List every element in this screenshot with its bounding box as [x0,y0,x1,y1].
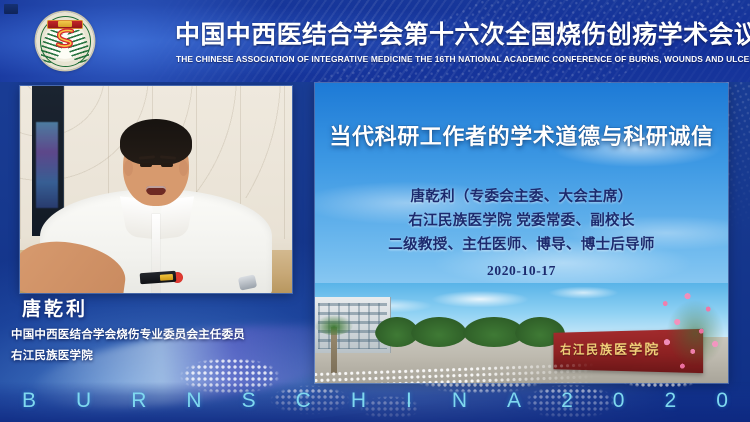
conference-broadcast-screen: 中国中西医结合学会第十六次全国烧伤创疡学术会议 THE CHINESE ASSO… [0,0,750,422]
speaker-name-overlay: 唐乾利 中国中西医结合学会烧伤专业委员会主任委员 右江民族医学院 [0,294,300,382]
banner-letter: A [507,389,521,413]
corner-artifact [4,4,18,14]
speaker-role-line-2: 右江民族医学院 [11,347,93,363]
bottom-banner: B U R N S C H I N A 2 0 2 0 [0,382,750,422]
banner-letter: N [186,389,201,413]
banner-letter: I [406,389,412,413]
banner-letter: B [22,389,36,413]
slide-info-line-3: 二级教授、主任医师、博导、博士后导师 [315,233,728,257]
association-emblem-icon [36,12,94,70]
speaker-eye-right [161,163,173,167]
speaker-video-feed[interactable] [20,86,292,293]
emblem-s-mark-icon [50,24,80,54]
broadcast-stage: 唐乾利 中国中西医结合学会烧伤专业委员会主任委员 右江民族医学院 当代科研工作者… [0,82,750,422]
banner-letter: R [131,389,146,413]
presentation-slide[interactable]: 当代科研工作者的学术道德与科研诚信 唐乾利（专委会主委、大会主席） 右江民族医学… [315,83,728,383]
slide-date-text: 2020-10-17 [315,259,728,283]
banner-letter: 0 [716,389,728,413]
banner-letter: 0 [613,389,625,413]
conference-header-banner: 中国中西医结合学会第十六次全国烧伤创疡学术会议 THE CHINESE ASSO… [0,0,750,82]
speaker-name-text: 唐乾利 [22,294,88,321]
slide-presenter-info: 唐乾利（专委会主委、大会主席） 右江民族医学院 党委常委、副校长 二级教授、主任… [315,185,728,283]
slide-info-line-1: 唐乾利（专委会主委、大会主席） [315,185,728,209]
banner-letters: B U R N S C H I N A 2 0 2 0 [22,389,728,413]
speaker-ear-left [124,160,133,176]
slide-info-line-2: 右江民族医学院 党委常委、副校长 [315,209,728,233]
campus-tree [411,317,467,347]
banner-letter: S [242,389,256,413]
slide-title-text: 当代科研工作者的学术道德与科研诚信 [315,119,728,151]
speaker-hair [120,119,192,165]
conference-title-chinese: 中国中西医结合学会第十六次全国烧伤创疡学术会议 [175,20,735,50]
banner-letter: U [76,389,91,413]
campus-palm-tree [331,327,337,373]
banner-letter: H [351,389,366,413]
conference-title-english: THE CHINESE ASSOCIATION OF INTEGRATIVE M… [176,54,736,65]
speaker-figure [20,86,292,293]
banner-letter: 2 [664,389,676,413]
speaker-role-line-1: 中国中西医结合学会烧伤专业委员会主任委员 [11,326,245,342]
banner-letter: N [452,389,467,413]
campus-flowering-shrub [648,287,728,379]
speaker-ear-right [179,160,188,176]
banner-letter: 2 [561,389,573,413]
speaker-eye-left [140,163,152,167]
banner-letter: C [296,389,311,413]
speaker-mouth [146,186,166,195]
